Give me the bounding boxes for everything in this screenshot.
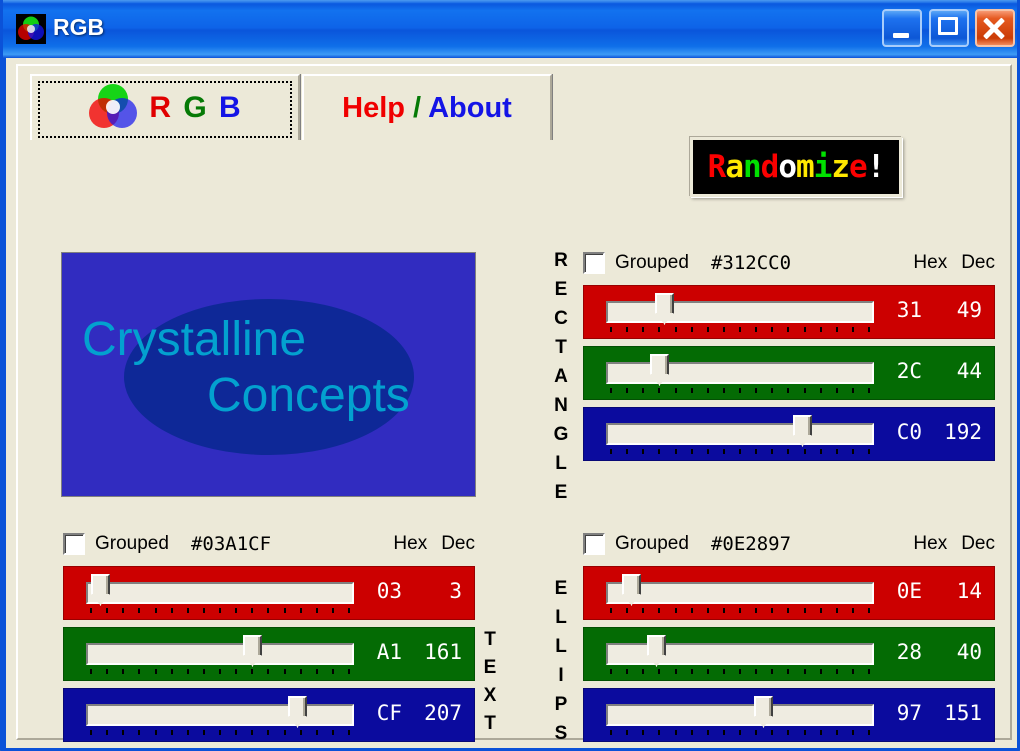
trackbar-text-green[interactable] <box>86 636 354 674</box>
tick <box>820 388 822 393</box>
minimize-icon <box>893 33 909 38</box>
tick <box>658 327 660 332</box>
tick <box>658 449 660 454</box>
trackbar-text-blue[interactable] <box>86 697 354 735</box>
tick <box>820 608 822 613</box>
tick <box>203 730 205 735</box>
tick <box>852 449 854 454</box>
thumb-tip-right <box>664 313 674 325</box>
slider-values-text-red: 033 <box>368 579 462 603</box>
tick <box>755 327 757 332</box>
group-header-text: Grouped#03A1CFHexDec <box>63 529 475 559</box>
trackbar-ellipse-green[interactable] <box>606 636 874 674</box>
randomize-letter-7: z <box>831 149 849 185</box>
tick <box>804 388 806 393</box>
trackbar-rectangle-green[interactable] <box>606 355 874 393</box>
tick <box>836 449 838 454</box>
tick <box>820 449 822 454</box>
hex-column-header: Hex <box>913 252 947 274</box>
slider-values-rectangle-red: 3149 <box>888 298 982 322</box>
randomize-letter-6: i <box>814 149 832 185</box>
client-area: R G B Help / About Randomize! Crystallin… <box>6 58 1020 748</box>
tick <box>820 669 822 674</box>
track-text-red <box>86 582 354 604</box>
tick <box>787 388 789 393</box>
tick <box>675 730 677 735</box>
tick <box>852 608 854 613</box>
tick <box>787 449 789 454</box>
tick <box>251 730 253 735</box>
rgb-color-wheel-icon <box>16 14 46 44</box>
value-hex: 03 <box>368 579 402 603</box>
thumb-tip-right <box>659 374 669 386</box>
tick <box>251 608 253 613</box>
tick <box>691 388 693 393</box>
tick <box>251 669 253 674</box>
tick <box>804 669 806 674</box>
grouped-checkbox-rectangle[interactable] <box>583 252 605 274</box>
vlabel-char: G <box>550 420 572 449</box>
tick <box>852 327 854 332</box>
tick <box>642 388 644 393</box>
tick <box>852 669 854 674</box>
value-dec: 151 <box>934 701 982 725</box>
thumb-body <box>655 293 674 314</box>
slider-thumb-rectangle-green[interactable] <box>650 354 669 387</box>
slider-thumb-rectangle-red[interactable] <box>655 293 674 326</box>
tick <box>771 608 773 613</box>
vlabel-char: E <box>550 478 572 507</box>
slider-thumb-text-red[interactable] <box>91 574 110 607</box>
tick <box>820 730 822 735</box>
tick <box>804 730 806 735</box>
tick <box>300 669 302 674</box>
tick <box>187 608 189 613</box>
hex-column-header: Hex <box>393 533 427 555</box>
column-headers-rectangle: HexDec <box>913 252 995 274</box>
slider-thumb-ellipse-red[interactable] <box>622 574 641 607</box>
tick <box>267 608 269 613</box>
vlabel-char: E <box>550 574 572 603</box>
vlabel-char: L <box>550 632 572 661</box>
tick <box>804 327 806 332</box>
track-rectangle-green <box>606 362 874 384</box>
group-rectangle: Grouped#312CC0HexDec31492C44C0192 <box>583 248 995 461</box>
window-title: RGB <box>53 14 104 41</box>
tick <box>787 730 789 735</box>
tick <box>626 669 628 674</box>
tick <box>787 669 789 674</box>
tick <box>707 669 709 674</box>
tick <box>171 730 173 735</box>
preview-text-line2: Concepts <box>207 369 410 422</box>
track-ellipse-blue <box>606 704 874 726</box>
vlabel-char: T <box>479 626 501 654</box>
tick <box>691 327 693 332</box>
tick <box>642 669 644 674</box>
vlabel-char: L <box>550 449 572 478</box>
close-button[interactable] <box>975 9 1015 47</box>
group-hex-value-ellipse: #0E2897 <box>711 533 791 555</box>
value-dec: 161 <box>414 640 462 664</box>
tick <box>267 669 269 674</box>
tick <box>90 608 92 613</box>
tick <box>868 730 870 735</box>
preview-text-line1: Crystalline <box>82 313 306 366</box>
tick <box>771 327 773 332</box>
value-hex: 97 <box>888 701 922 725</box>
thumb-tip-right <box>252 655 262 667</box>
tick <box>267 730 269 735</box>
track-text-blue <box>86 704 354 726</box>
randomize-letter-4: o <box>778 149 796 185</box>
tick <box>868 327 870 332</box>
trackbar-text-red[interactable] <box>86 575 354 613</box>
tick <box>106 669 108 674</box>
tab-rgb[interactable]: R G B <box>30 74 300 140</box>
randomize-label: Randomize! <box>708 149 885 185</box>
randomize-letter-2: n <box>743 149 761 185</box>
column-headers-ellipse: HexDec <box>913 533 995 555</box>
client-inner-panel: R G B Help / About Randomize! Crystallin… <box>16 64 1012 740</box>
tick-marks-text-blue <box>86 730 354 736</box>
tick <box>219 608 221 613</box>
tick <box>626 730 628 735</box>
app-window: RGB <box>0 0 1020 751</box>
tick <box>675 327 677 332</box>
track-ellipse-red <box>606 582 874 604</box>
rgb-venn-icon <box>87 82 139 134</box>
trackbar-ellipse-red[interactable] <box>606 575 874 613</box>
tab-letter-g: G <box>183 91 208 124</box>
tick <box>642 327 644 332</box>
tick <box>723 608 725 613</box>
tick <box>284 730 286 735</box>
value-hex: 28 <box>888 640 922 664</box>
value-hex: CF <box>368 701 402 725</box>
tick <box>675 388 677 393</box>
vlabel-ellipse: ELLIPSE <box>550 574 572 751</box>
thumb-tip-right <box>656 655 666 667</box>
track-rectangle-blue <box>606 423 874 445</box>
slider-thumb-ellipse-blue[interactable] <box>754 696 773 729</box>
maximize-icon <box>938 17 958 35</box>
tick <box>691 669 693 674</box>
color-preview-canvas: Crystalline Concepts <box>61 252 476 497</box>
slider-values-ellipse-red: 0E14 <box>888 579 982 603</box>
tick <box>171 608 173 613</box>
randomize-letter-5: m <box>796 149 814 185</box>
grouped-checkbox-text[interactable] <box>63 533 85 555</box>
randomize-letter-3: d <box>761 149 779 185</box>
tick <box>707 327 709 332</box>
tick <box>771 730 773 735</box>
slider-thumb-rectangle-blue[interactable] <box>793 415 812 448</box>
tick <box>691 730 693 735</box>
tick <box>284 669 286 674</box>
tick <box>739 669 741 674</box>
tick <box>707 449 709 454</box>
tick <box>610 327 612 332</box>
grouped-label-text: Grouped <box>95 533 169 555</box>
tick <box>122 669 124 674</box>
thumb-tip-right <box>631 594 641 606</box>
vlabel-char: X <box>479 682 501 710</box>
group-header-ellipse: Grouped#0E2897HexDec <box>583 529 995 559</box>
vlabel-char: P <box>550 690 572 719</box>
tick <box>868 388 870 393</box>
tick <box>122 608 124 613</box>
tick <box>316 608 318 613</box>
trackbar-rectangle-blue[interactable] <box>606 416 874 454</box>
value-hex: C0 <box>888 420 922 444</box>
tick <box>658 608 660 613</box>
tick <box>739 327 741 332</box>
vlabel-char: R <box>550 246 572 275</box>
tick <box>219 730 221 735</box>
tick <box>707 730 709 735</box>
slider-row-rectangle-blue: C0192 <box>583 407 995 461</box>
tick <box>348 730 350 735</box>
tick <box>235 669 237 674</box>
slider-thumb-ellipse-green[interactable] <box>647 635 666 668</box>
tick <box>771 669 773 674</box>
tick <box>300 608 302 613</box>
value-dec: 207 <box>414 701 462 725</box>
tick <box>332 730 334 735</box>
vlabel-char: C <box>550 304 572 333</box>
tick <box>675 608 677 613</box>
tick <box>106 608 108 613</box>
tick <box>691 608 693 613</box>
tick <box>739 608 741 613</box>
tick <box>348 669 350 674</box>
tick <box>771 449 773 454</box>
tick <box>90 730 92 735</box>
grouped-checkbox-ellipse[interactable] <box>583 533 605 555</box>
slider-row-ellipse-green: 2840 <box>583 627 995 681</box>
value-dec: 49 <box>934 298 982 322</box>
tick <box>155 608 157 613</box>
vlabel-char: S <box>550 719 572 748</box>
tick <box>836 388 838 393</box>
randomize-letter-9: ! <box>867 149 885 185</box>
tick <box>155 669 157 674</box>
dec-column-header: Dec <box>961 533 995 555</box>
slider-row-ellipse-red: 0E14 <box>583 566 995 620</box>
tick <box>755 608 757 613</box>
tick <box>626 388 628 393</box>
vlabel-char: I <box>550 661 572 690</box>
tick <box>739 388 741 393</box>
tick <box>675 449 677 454</box>
vlabel-char: E <box>550 275 572 304</box>
tick <box>642 449 644 454</box>
grouped-label-rectangle: Grouped <box>615 252 689 274</box>
tick <box>610 388 612 393</box>
tick <box>187 730 189 735</box>
tick <box>203 669 205 674</box>
tab-help-label: Help <box>342 92 405 124</box>
tick <box>235 730 237 735</box>
tick <box>723 449 725 454</box>
tick <box>332 669 334 674</box>
thumb-body <box>793 415 812 436</box>
slider-row-rectangle-red: 3149 <box>583 285 995 339</box>
grouped-label-ellipse: Grouped <box>615 533 689 555</box>
tick <box>755 449 757 454</box>
value-dec: 40 <box>934 640 982 664</box>
tab-letter-r: R <box>149 91 173 124</box>
thumb-body <box>754 696 773 717</box>
tick <box>691 449 693 454</box>
value-hex: 0E <box>888 579 922 603</box>
thumb-body <box>650 354 669 375</box>
slider-thumb-text-blue[interactable] <box>288 696 307 729</box>
tick <box>707 388 709 393</box>
tick <box>787 327 789 332</box>
tick <box>852 388 854 393</box>
tick <box>187 669 189 674</box>
tick <box>610 608 612 613</box>
thumb-body <box>622 574 641 595</box>
vlabel-char: A <box>550 362 572 391</box>
group-hex-value-text: #03A1CF <box>191 533 271 555</box>
slider-row-ellipse-blue: 97151 <box>583 688 995 742</box>
tick <box>106 730 108 735</box>
tick <box>868 608 870 613</box>
trackbar-rectangle-red[interactable] <box>606 294 874 332</box>
tick <box>626 327 628 332</box>
maximize-button[interactable] <box>929 9 969 47</box>
tick-marks-rectangle-green <box>606 388 874 394</box>
tick <box>610 669 612 674</box>
vlabel-char: T <box>479 710 501 738</box>
tab-help-about[interactable]: Help / About <box>302 74 552 140</box>
tick <box>755 388 757 393</box>
vlabel-char: N <box>550 391 572 420</box>
slider-values-ellipse-green: 2840 <box>888 640 982 664</box>
slider-row-text-blue: CF207 <box>63 688 475 742</box>
tick-marks-ellipse-red <box>606 608 874 614</box>
tick <box>138 669 140 674</box>
trackbar-ellipse-blue[interactable] <box>606 697 874 735</box>
tab-letter-b: B <box>219 91 243 124</box>
thumb-tip-right <box>802 435 812 447</box>
slider-thumb-text-green[interactable] <box>243 635 262 668</box>
value-dec: 14 <box>934 579 982 603</box>
tick <box>723 669 725 674</box>
vlabel-text: TEXT <box>479 626 501 738</box>
dec-column-header: Dec <box>961 252 995 274</box>
tick <box>723 327 725 332</box>
tick <box>820 327 822 332</box>
slider-row-text-red: 033 <box>63 566 475 620</box>
thumb-body <box>91 574 110 595</box>
tick <box>642 608 644 613</box>
value-hex: 2C <box>888 359 922 383</box>
tick <box>707 608 709 613</box>
tick <box>755 730 757 735</box>
tab-about-label: About <box>428 92 512 124</box>
thumb-tip-right <box>763 716 773 728</box>
tick <box>658 669 660 674</box>
tick <box>836 608 838 613</box>
value-dec: 3 <box>414 579 462 603</box>
tick-marks-text-red <box>86 608 354 614</box>
tick <box>138 608 140 613</box>
hex-column-header: Hex <box>913 533 947 555</box>
tick <box>348 608 350 613</box>
track-text-green <box>86 643 354 665</box>
vlabel-rectangle: RECTANGLE <box>550 246 572 507</box>
tick-marks-text-green <box>86 669 354 675</box>
vlabel-char: T <box>550 333 572 362</box>
minimize-button[interactable] <box>882 9 922 47</box>
tick <box>868 669 870 674</box>
tick-marks-ellipse-blue <box>606 730 874 736</box>
tick <box>332 608 334 613</box>
tick <box>804 449 806 454</box>
randomize-letter-1: a <box>725 149 743 185</box>
slider-row-rectangle-green: 2C44 <box>583 346 995 400</box>
tick <box>852 730 854 735</box>
slider-values-text-blue: CF207 <box>368 701 462 725</box>
group-ellipse: Grouped#0E2897HexDec0E14284097151 <box>583 529 995 742</box>
tick <box>626 608 628 613</box>
tick <box>723 730 725 735</box>
value-hex: A1 <box>368 640 402 664</box>
tick <box>723 388 725 393</box>
tick <box>219 669 221 674</box>
slider-row-text-green: A1161 <box>63 627 475 681</box>
tick <box>804 608 806 613</box>
randomize-letter-0: R <box>708 149 726 185</box>
tick <box>675 669 677 674</box>
tick <box>203 608 205 613</box>
tick <box>787 608 789 613</box>
value-hex: 31 <box>888 298 922 322</box>
tick <box>155 730 157 735</box>
tick <box>626 449 628 454</box>
tick <box>235 608 237 613</box>
randomize-button[interactable]: Randomize! <box>690 137 902 197</box>
slider-values-text-green: A1161 <box>368 640 462 664</box>
tick <box>610 449 612 454</box>
tick <box>771 388 773 393</box>
track-rectangle-red <box>606 301 874 323</box>
group-header-rectangle: Grouped#312CC0HexDec <box>583 248 995 278</box>
tick <box>284 608 286 613</box>
title-bar: RGB <box>3 0 1020 58</box>
tick <box>138 730 140 735</box>
thumb-body <box>243 635 262 656</box>
thumb-body <box>647 635 666 656</box>
value-dec: 44 <box>934 359 982 383</box>
slider-values-ellipse-blue: 97151 <box>888 701 982 725</box>
tick <box>658 388 660 393</box>
group-hex-value-rectangle: #312CC0 <box>711 252 791 274</box>
tick <box>90 669 92 674</box>
tick <box>610 730 612 735</box>
tick <box>658 730 660 735</box>
value-dec: 192 <box>934 420 982 444</box>
thumb-tip-right <box>100 594 110 606</box>
tab-slash-label: / <box>405 92 428 124</box>
tick <box>755 669 757 674</box>
slider-values-rectangle-blue: C0192 <box>888 420 982 444</box>
titlebar-highlight <box>3 0 1020 3</box>
